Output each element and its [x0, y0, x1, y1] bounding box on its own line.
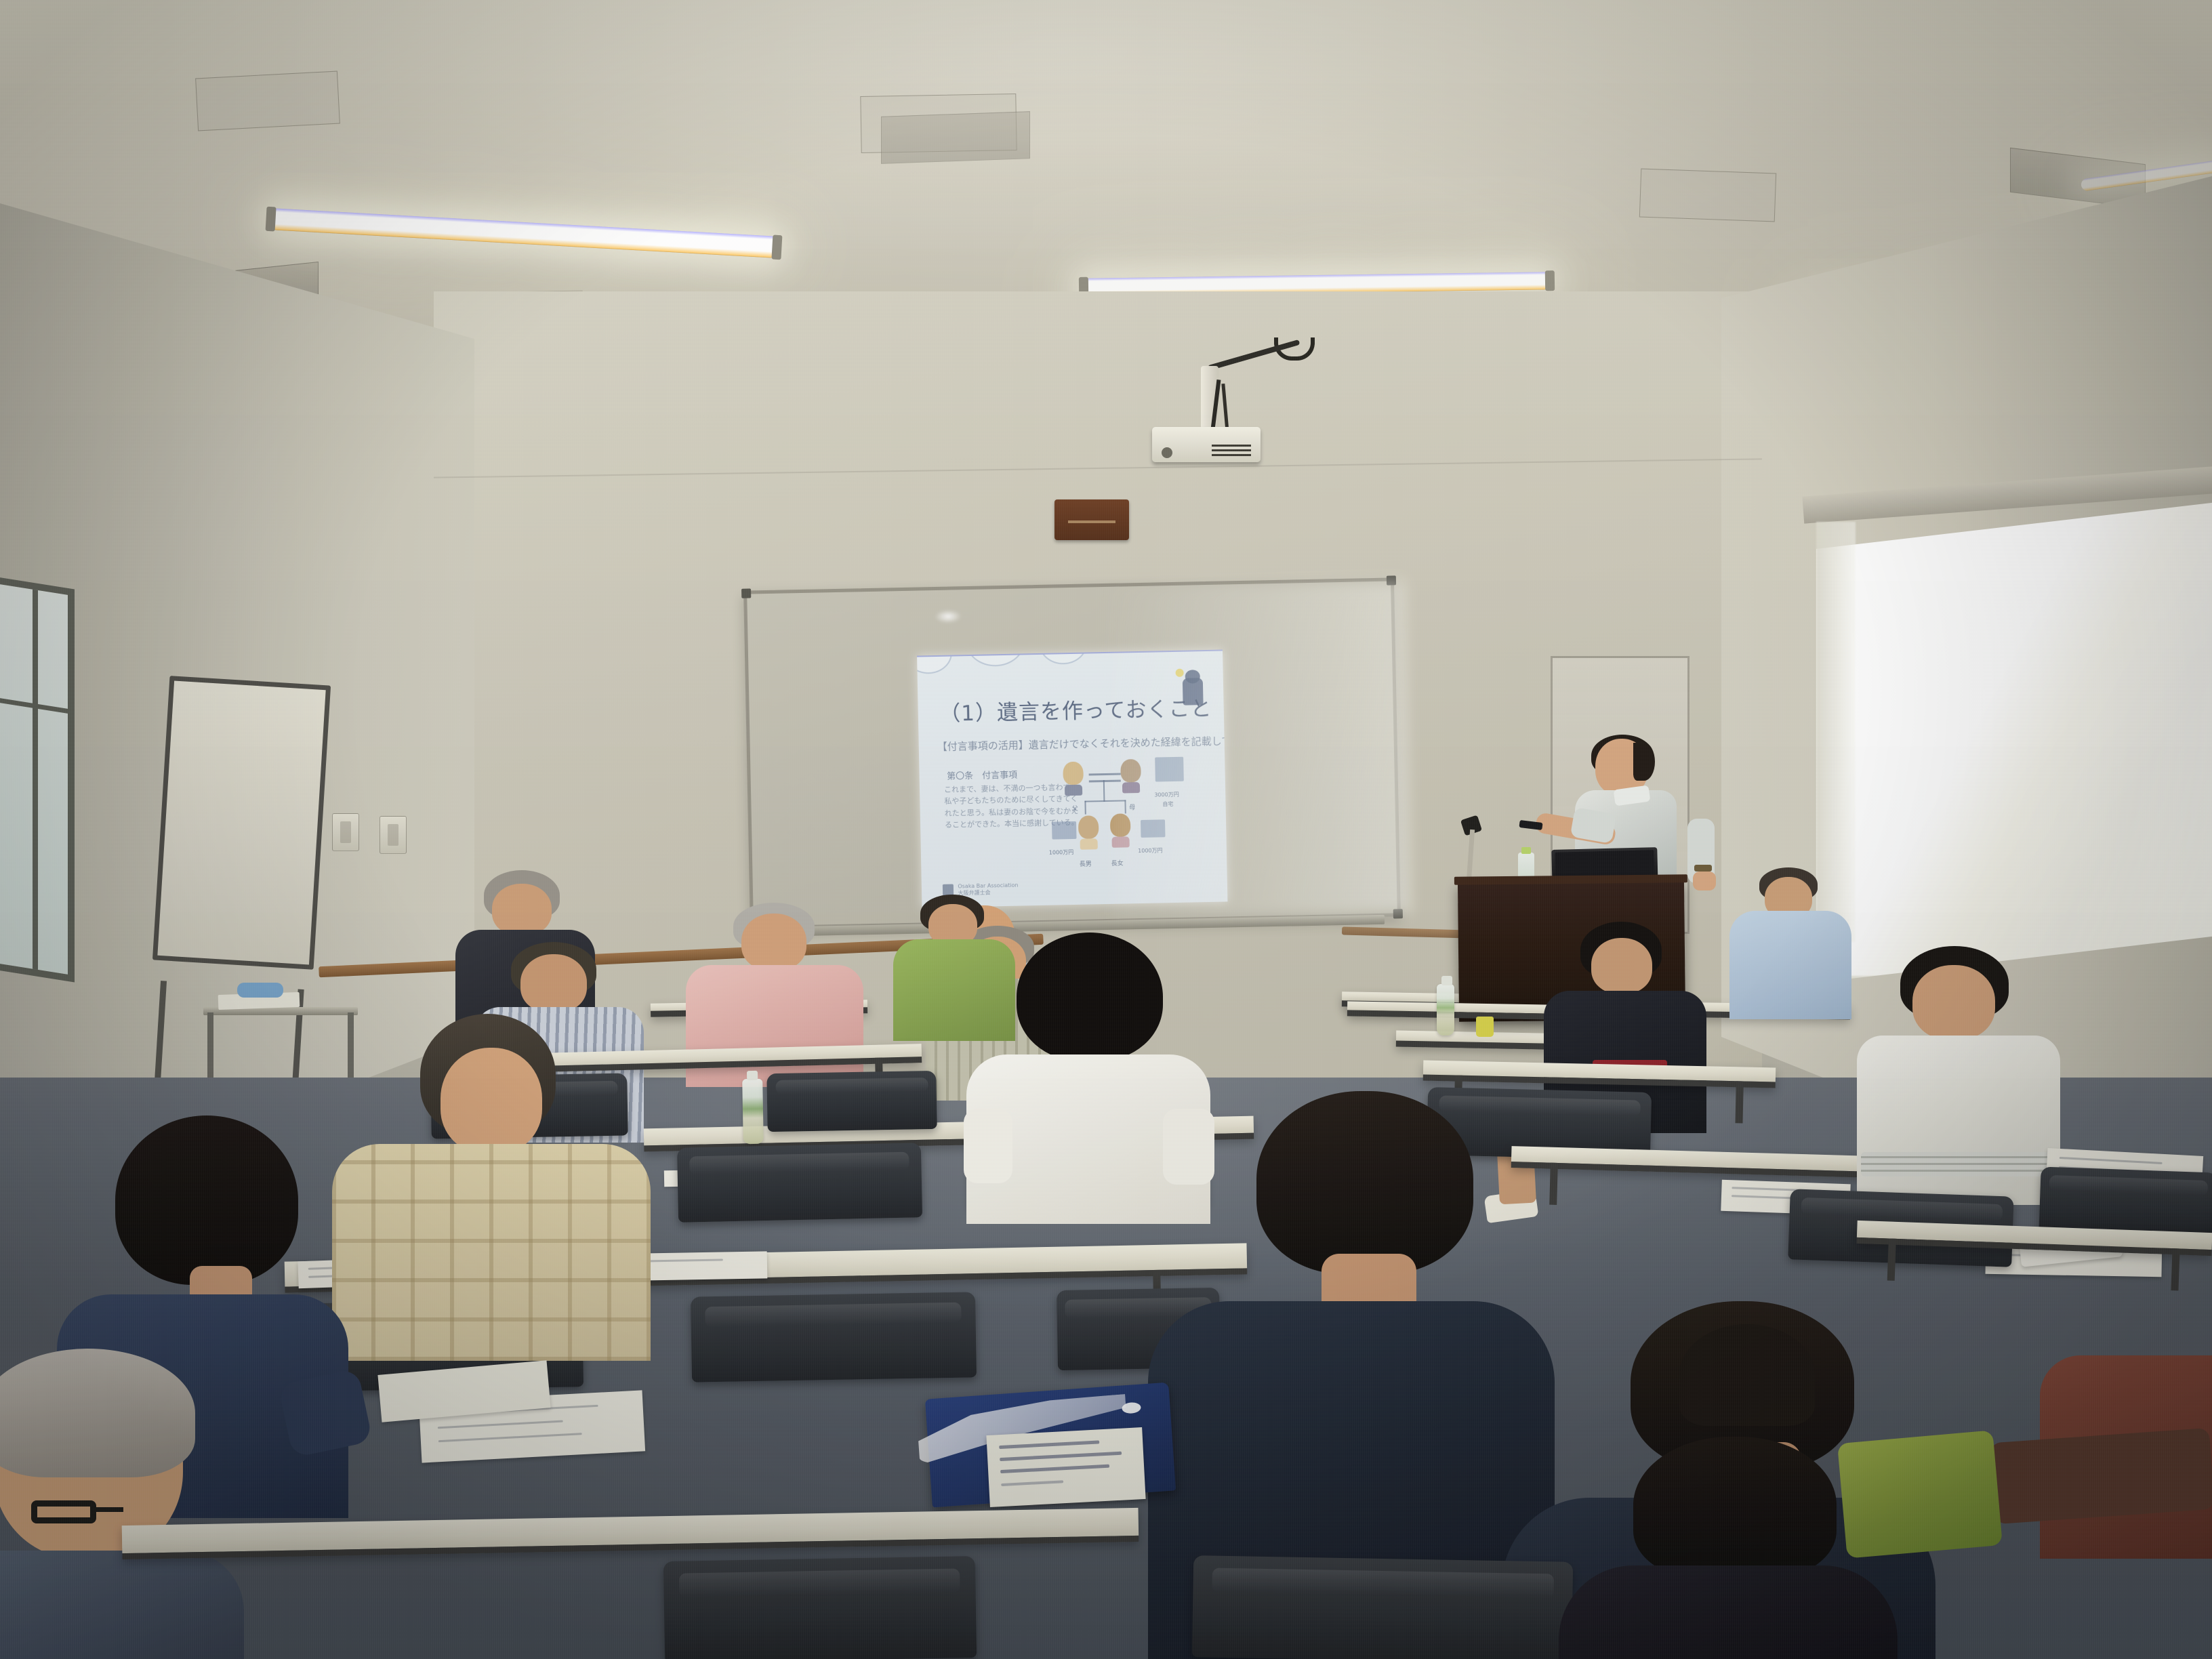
tree-figure-father [1063, 762, 1084, 796]
ceiling-access-panel [195, 71, 340, 131]
tree-label-daughter: 長女 [1111, 859, 1124, 867]
tree-figure-mother [1120, 759, 1141, 794]
right-wall-window [1816, 501, 2212, 976]
light-switch[interactable] [332, 813, 359, 851]
tree-note-mother: 自宅 [1162, 800, 1173, 808]
chair-backrest-right [1990, 1428, 2212, 1524]
slide-title: （1）遺言を作っておくこと [939, 691, 1203, 727]
chair[interactable] [691, 1292, 977, 1382]
whiteboard-projection-surface: （1）遺言を作っておくこと 【付言事項の活用】遺言だけでなくそれを決めた経緯を記… [743, 577, 1401, 929]
tree-amount-mother: 3000万円 [1154, 791, 1179, 799]
mobile-whiteboard [150, 676, 332, 1004]
ceiling-air-vent [881, 111, 1030, 164]
tree-label-mother: 母 [1129, 802, 1135, 811]
hair-top [1679, 1324, 1815, 1426]
tote-document[interactable] [986, 1427, 1145, 1507]
tree-amount-son: 1000万円 [1049, 848, 1074, 857]
chair[interactable] [1192, 1555, 1574, 1659]
light-switch[interactable] [380, 816, 407, 854]
tree-figure-daughter [1110, 813, 1131, 848]
tree-amount-box-mother [1155, 757, 1185, 782]
tree-amount-daughter: 1000万円 [1138, 846, 1163, 855]
chair[interactable] [766, 1071, 937, 1132]
handout-papers[interactable] [638, 1251, 768, 1280]
shirt-hem-stripes [1861, 1152, 2056, 1176]
chair[interactable] [677, 1143, 922, 1223]
projector-glare [934, 610, 961, 624]
tree-amount-box-daughter [1141, 819, 1166, 838]
tree-amount-box-son [1052, 821, 1077, 840]
attendee-elderly-glasses-man [0, 1355, 251, 1659]
attendee-white-polo-man [1857, 949, 2060, 1193]
tree-label-son: 長男 [1080, 859, 1092, 868]
chair[interactable] [663, 1556, 977, 1659]
tree-label-father: 父 [1072, 804, 1078, 813]
water-bottle[interactable] [1437, 984, 1454, 1036]
eyeglasses-bridge [92, 1507, 123, 1512]
tree-figure-son [1078, 815, 1099, 850]
slide-body-heading: 第〇条 付言事項 [947, 768, 1017, 782]
water-bottle[interactable] [742, 1079, 764, 1145]
left-wall-window [0, 576, 75, 982]
cart-blue-item [237, 983, 283, 998]
attendee-short-hair-man-2 [1572, 1437, 1884, 1659]
attendee-blue-shirt-man [1727, 872, 1856, 1014]
projected-slide: （1）遺言を作っておくこと 【付言事項の活用】遺言だけでなくそれを決めた経緯を記… [917, 649, 1228, 907]
seminar-room-photo: （1）遺言を作っておくこと 【付言事項の活用】遺言だけでなくそれを決めた経緯を記… [0, 0, 2212, 1659]
ceiling-projector [1152, 427, 1261, 462]
slide-subtitle: 【付言事項の活用】遺言だけでなくそれを決めた経緯を記載しておくこと [937, 734, 1212, 754]
wall-plaque [1054, 499, 1129, 540]
ceiling-access-panel [1639, 169, 1776, 222]
eyeglasses [31, 1500, 96, 1523]
sleeve [964, 1109, 1012, 1183]
drink-cup[interactable] [1476, 1017, 1494, 1037]
attendee-plaid-shirt-man [332, 1021, 651, 1353]
slide-family-tree-diagram: 父 母 3000万円 自宅 [1057, 756, 1218, 895]
